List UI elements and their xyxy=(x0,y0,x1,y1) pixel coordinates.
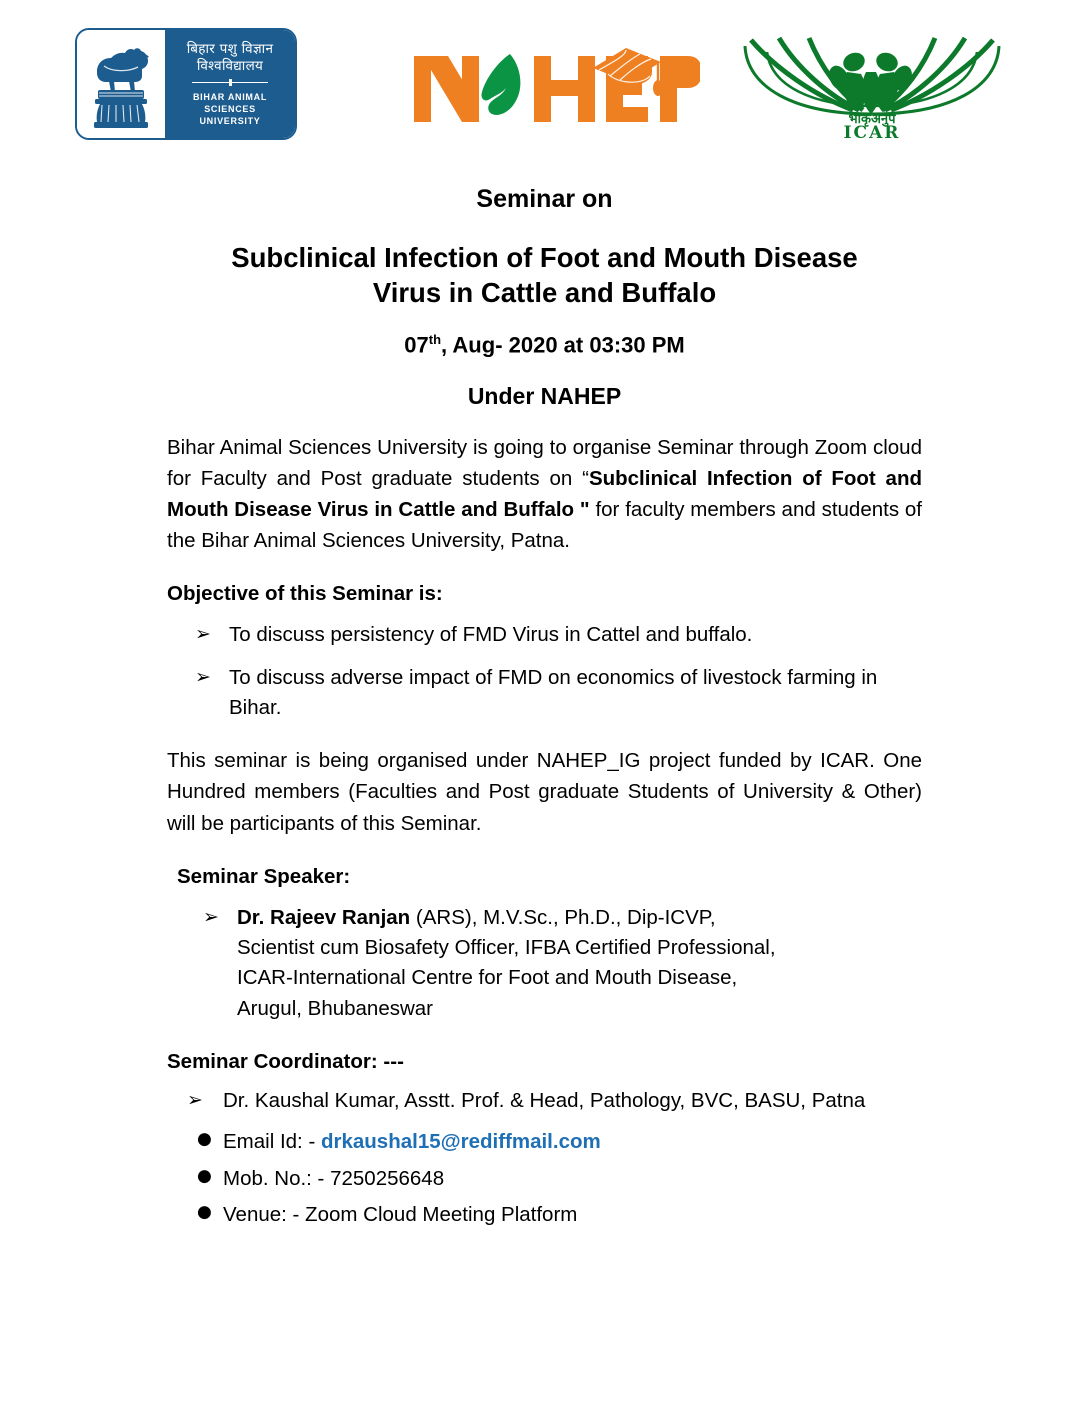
list-item: ➢ Dr. Kaushal Kumar, Asstt. Prof. & Head… xyxy=(167,1086,922,1117)
seminar-flyer-page: { "header": { "basu_logo": { "name": "ba… xyxy=(0,0,1088,1408)
seminar-title-line1: Subclinical Infection of Foot and Mouth … xyxy=(231,242,857,273)
objective-item-text: To discuss adverse impact of FMD on econ… xyxy=(229,666,877,719)
speaker-name: Dr. Rajeev Ranjan xyxy=(237,906,410,929)
basu-emblem-panel xyxy=(77,30,165,138)
dot-bullet-icon: ● xyxy=(197,1200,212,1226)
list-item: ➢ Dr. Rajeev Ranjan (ARS), M.V.Sc., Ph.D… xyxy=(167,903,922,1024)
speaker-list: ➢ Dr. Rajeev Ranjan (ARS), M.V.Sc., Ph.D… xyxy=(167,903,922,1024)
list-item: ● Email Id: - drkaushal15@rediffmail.com xyxy=(167,1127,922,1158)
arrow-bullet-icon: ➢ xyxy=(187,1086,203,1115)
email-label: Email Id: - xyxy=(223,1130,321,1153)
date-ordinal-suffix: th xyxy=(429,332,441,347)
seminar-coordinator-heading: Seminar Coordinator: --- xyxy=(167,1050,922,1074)
coordinator-list: ➢ Dr. Kaushal Kumar, Asstt. Prof. & Head… xyxy=(167,1086,922,1231)
venue-line: Venue: - Zoom Cloud Meeting Platform xyxy=(223,1203,577,1226)
seminar-on-label: Seminar on xyxy=(167,184,922,214)
funding-paragraph: This seminar is being organised under NA… xyxy=(167,745,922,838)
list-item: ● Venue: - Zoom Cloud Meeting Platform xyxy=(167,1200,922,1231)
mobile-line: Mob. No.: - 7250256648 xyxy=(223,1167,444,1190)
seminar-speaker-heading: Seminar Speaker: xyxy=(177,865,922,889)
seminar-datetime: 07th, Aug- 2020 at 03:30 PM xyxy=(167,332,922,358)
arrow-bullet-icon: ➢ xyxy=(195,663,211,691)
under-nahep-label: Under NAHEP xyxy=(167,383,922,410)
seminar-title: Subclinical Infection of Foot and Mouth … xyxy=(167,240,922,310)
arrow-bullet-icon: ➢ xyxy=(195,620,211,648)
list-item: ➢ To discuss persistency of FMD Virus in… xyxy=(167,620,922,650)
bull-pillar-emblem-icon xyxy=(84,36,158,132)
arrow-bullet-icon: ➢ xyxy=(203,903,219,931)
dot-bullet-icon: ● xyxy=(197,1164,212,1190)
speaker-affiliation-line3: ICAR-International Centre for Foot and M… xyxy=(237,966,737,989)
speaker-affiliation-line2: Scientist cum Biosafety Officer, IFBA Ce… xyxy=(237,936,776,959)
dot-bullet-icon: ● xyxy=(197,1127,212,1153)
date-day: 07 xyxy=(404,333,428,358)
title-block: Seminar on Subclinical Infection of Foot… xyxy=(167,184,922,410)
document-body: Seminar on Subclinical Infection of Foot… xyxy=(167,0,922,1237)
list-item: ● Mob. No.: - 7250256648 xyxy=(167,1164,922,1195)
seminar-title-line2: Virus in Cattle and Buffalo xyxy=(373,277,716,308)
objective-heading: Objective of this Seminar is: xyxy=(167,582,922,606)
objective-item-text: To discuss persistency of FMD Virus in C… xyxy=(229,623,752,646)
intro-paragraph: Bihar Animal Sciences University is goin… xyxy=(167,432,922,557)
objective-list: ➢ To discuss persistency of FMD Virus in… xyxy=(167,620,922,723)
list-item: ➢ To discuss adverse impact of FMD on ec… xyxy=(167,663,922,724)
email-value[interactable]: drkaushal15@rediffmail.com xyxy=(321,1130,601,1153)
date-rest: , Aug- 2020 at 03:30 PM xyxy=(441,333,685,358)
coordinator-name-line: Dr. Kaushal Kumar, Asstt. Prof. & Head, … xyxy=(223,1089,865,1112)
speaker-credentials: (ARS), M.V.Sc., Ph.D., Dip-ICVP, xyxy=(410,906,715,929)
speaker-affiliation-line4: Arugul, Bhubaneswar xyxy=(237,997,433,1020)
